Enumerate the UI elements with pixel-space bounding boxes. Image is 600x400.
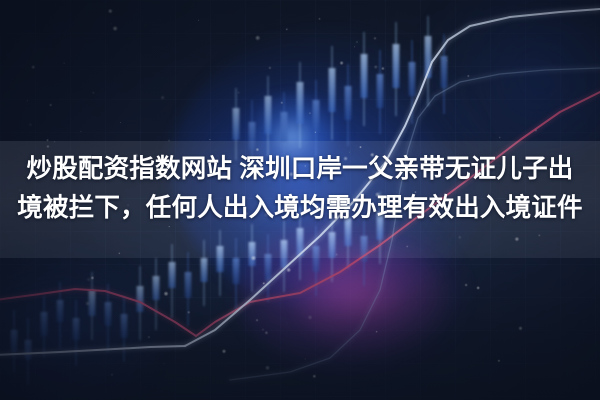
headline-text: 炒股配资指数网站 深圳口岸一父亲带无证儿子出 境被拦下，任何人出入境均需办理有效… xyxy=(0,150,600,228)
news-banner-image: 炒股配资指数网站 深圳口岸一父亲带无证儿子出 境被拦下，任何人出入境均需办理有效… xyxy=(0,0,600,400)
headline-line-2: 境被拦下，任何人出入境均需办理有效出入境证件 xyxy=(0,189,600,228)
headline-line-1: 炒股配资指数网站 深圳口岸一父亲带无证儿子出 xyxy=(0,150,600,189)
